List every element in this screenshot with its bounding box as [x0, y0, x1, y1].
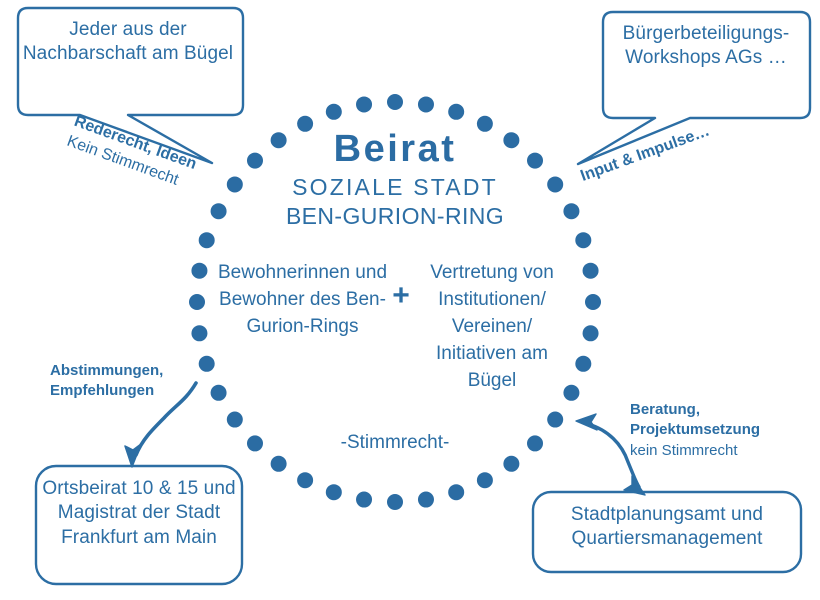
ring-dot	[189, 294, 205, 310]
ring-dot	[326, 484, 342, 500]
center-subtitle-2: BEN-GURION-RING	[245, 203, 545, 230]
ring-dot	[297, 472, 313, 488]
arrow-bottom-left-head	[125, 444, 141, 467]
ring-dot	[199, 356, 215, 372]
ring-dot	[583, 263, 599, 279]
ring-dot	[227, 412, 243, 428]
ring-dot	[575, 356, 591, 372]
ring-dot	[503, 456, 519, 472]
center-column-right: Vertretung von Institutionen/ Vereinen/ …	[412, 260, 572, 395]
edge-label-bottom-left: Abstimmungen, Empfehlungen	[50, 361, 190, 402]
ring-dot	[547, 176, 563, 192]
ring-dot	[477, 472, 493, 488]
edge-label-bottom-right: Beratung, Projektumsetzung kein Stimmrec…	[630, 400, 790, 461]
center-footer-label: -Stimmrecht-	[295, 432, 495, 454]
ring-dot	[418, 492, 434, 508]
ring-dot	[271, 456, 287, 472]
ring-dot	[418, 96, 434, 112]
center-title: Beirat	[245, 128, 545, 171]
ring-dot	[191, 263, 207, 279]
ring-dot	[199, 232, 215, 248]
edge-label-bottom-right-bold: Beratung, Projektumsetzung	[630, 400, 790, 441]
ring-dot	[326, 104, 342, 120]
ring-dot	[387, 94, 403, 110]
ring-dot	[448, 484, 464, 500]
ring-dot	[191, 325, 207, 341]
arrow-bottom-right-head-up	[576, 414, 597, 430]
ring-dot	[575, 232, 591, 248]
ring-dot	[387, 494, 403, 510]
plus-icon: +	[390, 281, 412, 311]
diagram-canvas: Jeder aus der Nachbarschaft am Bügel Bür…	[0, 0, 820, 600]
ring-dot	[227, 176, 243, 192]
ring-dot	[547, 412, 563, 428]
box-bottom-right-shape	[533, 492, 801, 572]
box-bottom-right	[533, 492, 801, 572]
box-bottom-left	[36, 466, 242, 584]
ring-dot	[356, 96, 372, 112]
edge-label-bottom-right-regular: kein Stimmrecht	[630, 441, 790, 461]
ring-dot	[247, 435, 263, 451]
ring-dot	[585, 294, 601, 310]
box-bottom-left-shape	[36, 466, 242, 584]
ring-dot	[211, 385, 227, 401]
ring-dot	[448, 104, 464, 120]
center-column-left: Bewohnerinnen und Bewohner des Ben-Gurio…	[215, 260, 390, 341]
center-subtitle-1: SOZIALE STADT	[245, 174, 545, 201]
ring-dot	[527, 435, 543, 451]
ring-dot	[211, 203, 227, 219]
ring-dot	[563, 203, 579, 219]
ring-dot	[583, 325, 599, 341]
ring-dot	[356, 492, 372, 508]
